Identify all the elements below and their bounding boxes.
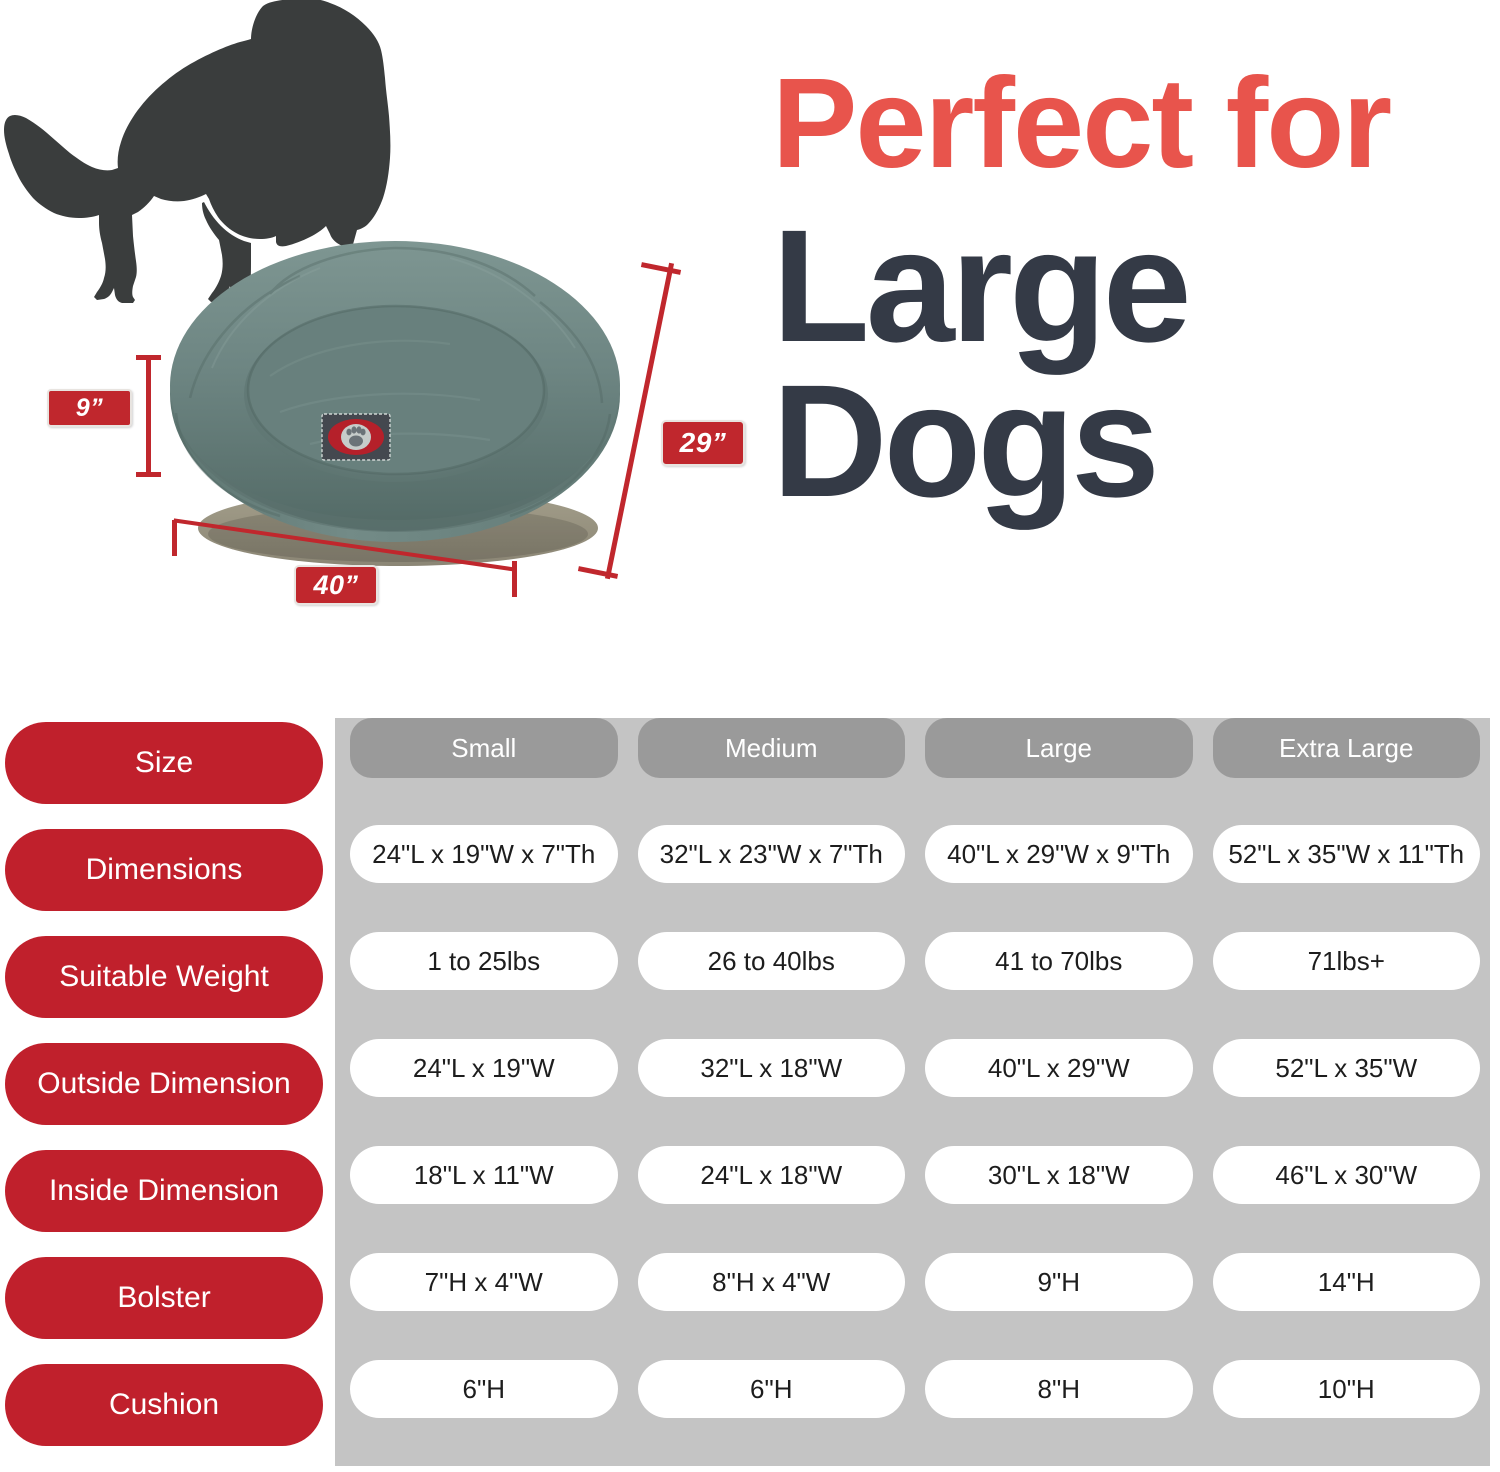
- table-header-row: Small Medium Large Extra Large: [350, 718, 1480, 778]
- cell-bolster-extra-large: 14"H: [1213, 1253, 1481, 1311]
- hero-headline: Perfect for Large Dogs: [772, 58, 1487, 523]
- cell-cushion-large: 8"H: [925, 1360, 1193, 1418]
- cell-inside-dimension-small: 18"L x 11"W: [350, 1146, 618, 1204]
- cell-inside-dimension-extra-large: 46"L x 30"W: [1213, 1146, 1481, 1204]
- table-row-cushion: 6"H 6"H 8"H 10"H: [350, 1360, 1480, 1418]
- cell-suitable-weight-medium: 26 to 40lbs: [638, 932, 906, 990]
- table-row-label-column: Size Dimensions Suitable Weight Outside …: [5, 722, 323, 1471]
- table-row-dimensions: 24"L x 19"W x 7"Th 32"L x 23"W x 7"Th 40…: [350, 825, 1480, 883]
- column-header-medium: Medium: [638, 718, 906, 778]
- row-label-suitable-weight: Suitable Weight: [5, 936, 323, 1018]
- cell-outside-dimension-large: 40"L x 29"W: [925, 1039, 1193, 1097]
- cell-dimensions-extra-large: 52"L x 35"W x 11"Th: [1213, 825, 1481, 883]
- cell-suitable-weight-extra-large: 71lbs+: [1213, 932, 1481, 990]
- column-header-extra-large: Extra Large: [1213, 718, 1481, 778]
- headline-line-1: Perfect for: [772, 58, 1487, 190]
- row-label-size: Size: [5, 722, 323, 804]
- cell-outside-dimension-extra-large: 52"L x 35"W: [1213, 1039, 1481, 1097]
- cell-inside-dimension-medium: 24"L x 18"W: [638, 1146, 906, 1204]
- cell-inside-dimension-large: 30"L x 18"W: [925, 1146, 1193, 1204]
- cell-outside-dimension-medium: 32"L x 18"W: [638, 1039, 906, 1097]
- cell-dimensions-large: 40"L x 29"W x 9"Th: [925, 825, 1193, 883]
- table-row-inside-dimension: 18"L x 11"W 24"L x 18"W 30"L x 18"W 46"L…: [350, 1146, 1480, 1204]
- table-row-bolster: 7"H x 4"W 8"H x 4"W 9"H 14"H: [350, 1253, 1480, 1311]
- headline-line-2: Large: [772, 204, 1487, 369]
- dimension-badge-height: 9”: [47, 389, 132, 427]
- cell-bolster-medium: 8"H x 4"W: [638, 1253, 906, 1311]
- cell-outside-dimension-small: 24"L x 19"W: [350, 1039, 618, 1097]
- spec-comparison-table: Size Dimensions Suitable Weight Outside …: [0, 690, 1500, 1472]
- dimension-badge-width: 29”: [661, 420, 745, 466]
- headline-line-3: Dogs: [772, 359, 1487, 524]
- column-header-small: Small: [350, 718, 618, 778]
- cell-cushion-medium: 6"H: [638, 1360, 906, 1418]
- table-row-outside-dimension: 24"L x 19"W 32"L x 18"W 40"L x 29"W 52"L…: [350, 1039, 1480, 1097]
- cell-bolster-large: 9"H: [925, 1253, 1193, 1311]
- row-label-inside-dimension: Inside Dimension: [5, 1150, 323, 1232]
- measurement-line-height: [136, 355, 160, 477]
- cell-cushion-small: 6"H: [350, 1360, 618, 1418]
- cell-suitable-weight-small: 1 to 25lbs: [350, 932, 618, 990]
- column-header-large: Large: [925, 718, 1193, 778]
- dimension-badge-length: 40”: [294, 565, 378, 605]
- cell-suitable-weight-large: 41 to 70lbs: [925, 932, 1193, 990]
- brand-tag: [322, 414, 390, 460]
- table-value-grid: Small Medium Large Extra Large 24"L x 19…: [350, 718, 1480, 1467]
- table-row-suitable-weight: 1 to 25lbs 26 to 40lbs 41 to 70lbs 71lbs…: [350, 932, 1480, 990]
- product-size-chart-infographic: 9” 29” 40” Perfect for Large Dogs Size D…: [0, 0, 1500, 1472]
- row-label-outside-dimension: Outside Dimension: [5, 1043, 323, 1125]
- cell-dimensions-small: 24"L x 19"W x 7"Th: [350, 825, 618, 883]
- cell-cushion-extra-large: 10"H: [1213, 1360, 1481, 1418]
- cell-dimensions-medium: 32"L x 23"W x 7"Th: [638, 825, 906, 883]
- row-label-dimensions: Dimensions: [5, 829, 323, 911]
- cell-bolster-small: 7"H x 4"W: [350, 1253, 618, 1311]
- row-label-bolster: Bolster: [5, 1257, 323, 1339]
- row-label-cushion: Cushion: [5, 1364, 323, 1446]
- hero-section: 9” 29” 40” Perfect for Large Dogs: [0, 0, 1500, 690]
